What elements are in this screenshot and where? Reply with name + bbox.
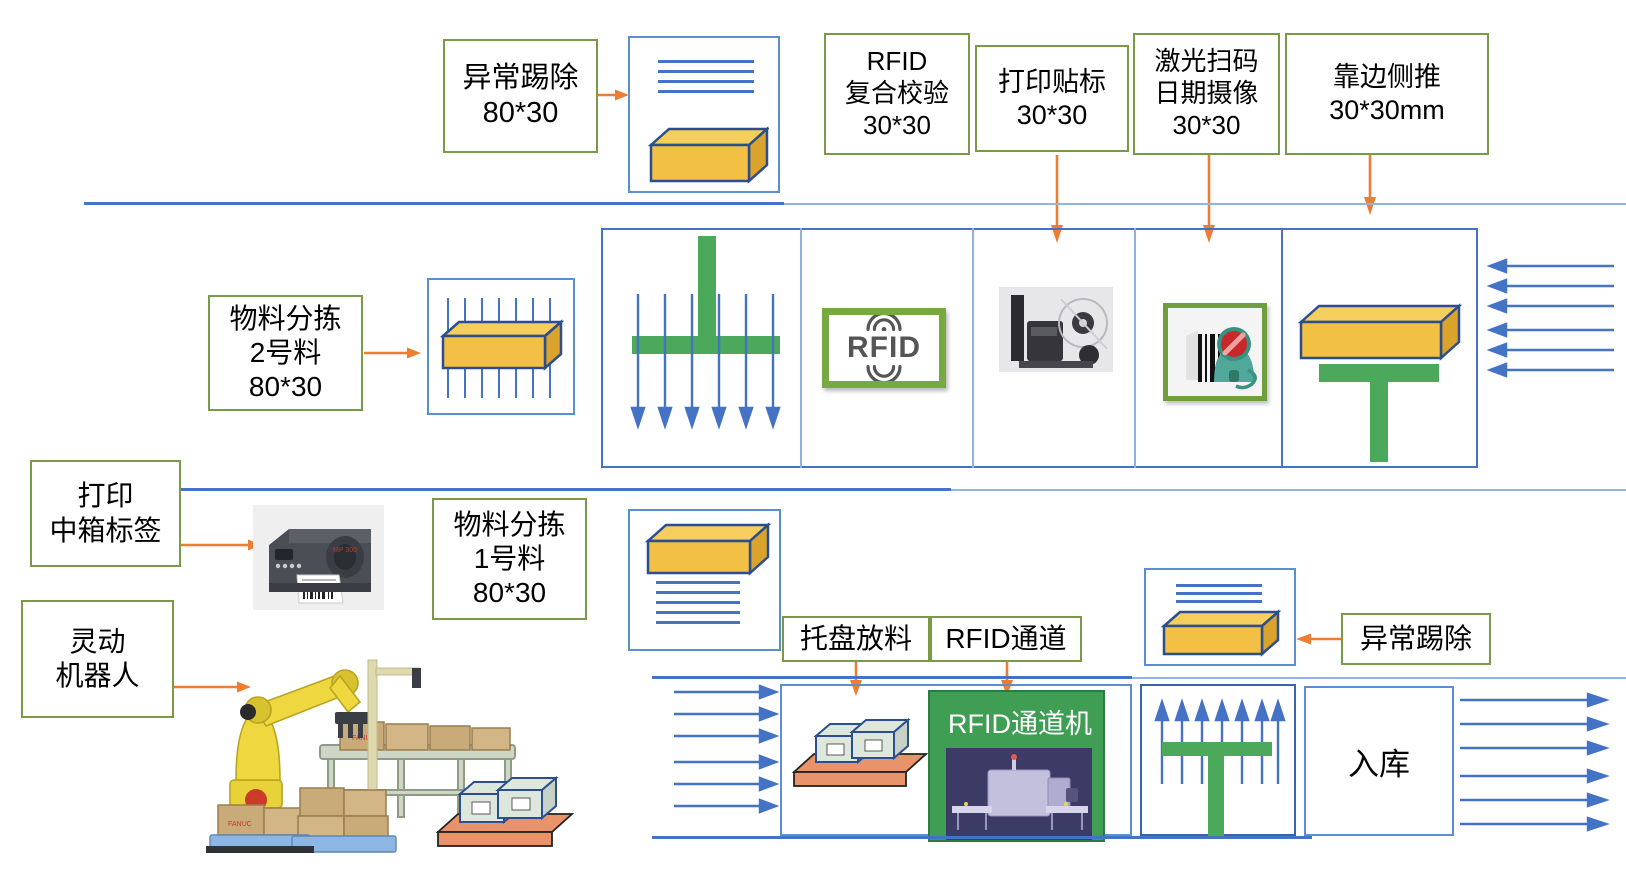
- rfid-waves-top-icon: [858, 315, 910, 331]
- station-infeed-arrows: [1484, 258, 1626, 388]
- carton-icon: [440, 316, 564, 372]
- label-lines-stack: [1176, 584, 1262, 608]
- label-line: 2号料: [250, 336, 322, 370]
- station-diverter: [610, 232, 798, 466]
- label-line: 30*30: [1017, 99, 1088, 132]
- label-line: 机器人: [55, 659, 139, 693]
- process-flow-diagram: 异常踢除 80*30 RFID 复合校验 30*30 打印贴标 30*30 激光…: [0, 0, 1626, 892]
- label-line: 打印贴标: [998, 66, 1106, 99]
- label-line: 物料分拣: [229, 302, 341, 336]
- label-line: 托盘放料: [800, 622, 912, 656]
- label-line: 30*30mm: [1329, 94, 1445, 127]
- connector-arrow-material-sort-2: [364, 346, 422, 365]
- rail-top-light: [784, 203, 1626, 205]
- outbound-arrows: [1458, 692, 1618, 834]
- label-agile-robot: 灵动 机器人: [21, 600, 174, 718]
- panel-reject-bottom: [1144, 568, 1296, 666]
- conveyor-divider: [1281, 228, 1283, 468]
- rfid-tunnel-caption: RFID通道机: [930, 692, 1103, 741]
- label-material-sort-2: 物料分拣 2号料 80*30: [208, 295, 363, 411]
- label-rfid-tunnel: RFID通道: [930, 616, 1082, 662]
- station-side-pusher: [1295, 298, 1471, 468]
- conveyor-divider: [800, 228, 802, 468]
- label-line: 日期摄像: [1154, 78, 1258, 110]
- label-line: 30*30: [1173, 110, 1241, 142]
- label-print-carton-label: 打印 中箱标签: [30, 460, 181, 567]
- label-line: 激光扫码: [1154, 46, 1258, 78]
- conveyor-divider: [1134, 228, 1136, 468]
- label-applicator-photo: [999, 287, 1113, 372]
- rail-bottom-light: [1132, 677, 1626, 679]
- station-lifter-up: [1150, 694, 1288, 836]
- rfid-tag-icon: RFID: [822, 308, 946, 388]
- conveyor-divider: [1476, 228, 1478, 468]
- rail-bottom: [652, 676, 1132, 679]
- conveyor-divider: [972, 228, 974, 468]
- barcode-scanner-icon: [1163, 303, 1267, 401]
- label-abnormal-reject-top: 异常踢除 80*30: [443, 39, 598, 153]
- label-side-push: 靠边侧推 30*30mm: [1285, 33, 1489, 155]
- label-line: 灵动: [69, 625, 125, 659]
- label-line: 80*30: [483, 96, 559, 131]
- label-line: 物料分拣: [453, 508, 565, 542]
- rfid-tag-text: RFID: [847, 331, 921, 365]
- label-line: 80*30: [473, 576, 546, 610]
- label-line: 复合校验: [845, 78, 949, 110]
- pallet-with-boxes-icon: [432, 760, 582, 855]
- label-line: 靠边侧推: [1333, 61, 1441, 94]
- warehouse-label: 入库: [1348, 739, 1410, 784]
- pallet-feed-icon: [790, 706, 935, 798]
- connector-arrow-reject-top: [598, 88, 630, 107]
- label-line: 异常踢除: [1360, 622, 1472, 656]
- connector-arrow-side-push: [1363, 155, 1377, 222]
- carton-icon: [1160, 606, 1282, 660]
- label-line: RFID通道: [945, 622, 1066, 656]
- label-line: 打印: [77, 479, 133, 513]
- thermal-printer-photo: MP 300: [253, 505, 384, 610]
- label-material-sort-1: 物料分拣 1号料 80*30: [432, 498, 587, 620]
- label-laser-scan: 激光扫码 日期摄像 30*30: [1133, 33, 1280, 155]
- label-line: RFID: [867, 46, 928, 78]
- panel-warehouse-inbound: 入库: [1304, 686, 1454, 836]
- panel-print-carton-label: [628, 509, 781, 651]
- label-lines-stack: [656, 581, 740, 631]
- connector-arrow-reject-bottom: [1296, 632, 1346, 651]
- connector-arrow-printer: [181, 538, 263, 557]
- label-print-apply: 打印贴标 30*30: [975, 45, 1129, 152]
- rail-middle-light: [951, 489, 1626, 491]
- rfid-tunnel-photo: [946, 748, 1092, 840]
- svg-text:FANUC: FANUC: [228, 821, 252, 828]
- label-pallet-feed: 托盘放料: [782, 616, 930, 662]
- label-lines-stack: [658, 60, 754, 100]
- panel-sorting-2: [427, 278, 575, 415]
- label-line: 中箱标签: [49, 514, 161, 548]
- carton-icon: [647, 123, 769, 185]
- svg-text:MP 300: MP 300: [333, 547, 357, 554]
- label-line: 1号料: [474, 542, 546, 576]
- rfid-tunnel-machine: RFID通道机: [928, 690, 1105, 842]
- rfid-waves-bottom-icon: [858, 365, 910, 381]
- rail-top: [84, 202, 784, 205]
- label-line: 80*30: [249, 370, 322, 404]
- label-rfid-verify: RFID 复合校验 30*30: [824, 33, 970, 155]
- label-line: 30*30: [863, 110, 931, 142]
- panel-reject-station-top: [628, 36, 780, 193]
- label-abnormal-reject-bottom: 异常踢除: [1341, 613, 1491, 665]
- carton-icon: [644, 519, 772, 577]
- bottom-infeed-arrows: [672, 684, 782, 824]
- rail-bottom-baseline: [652, 836, 1312, 839]
- label-line: 异常踢除: [462, 61, 578, 96]
